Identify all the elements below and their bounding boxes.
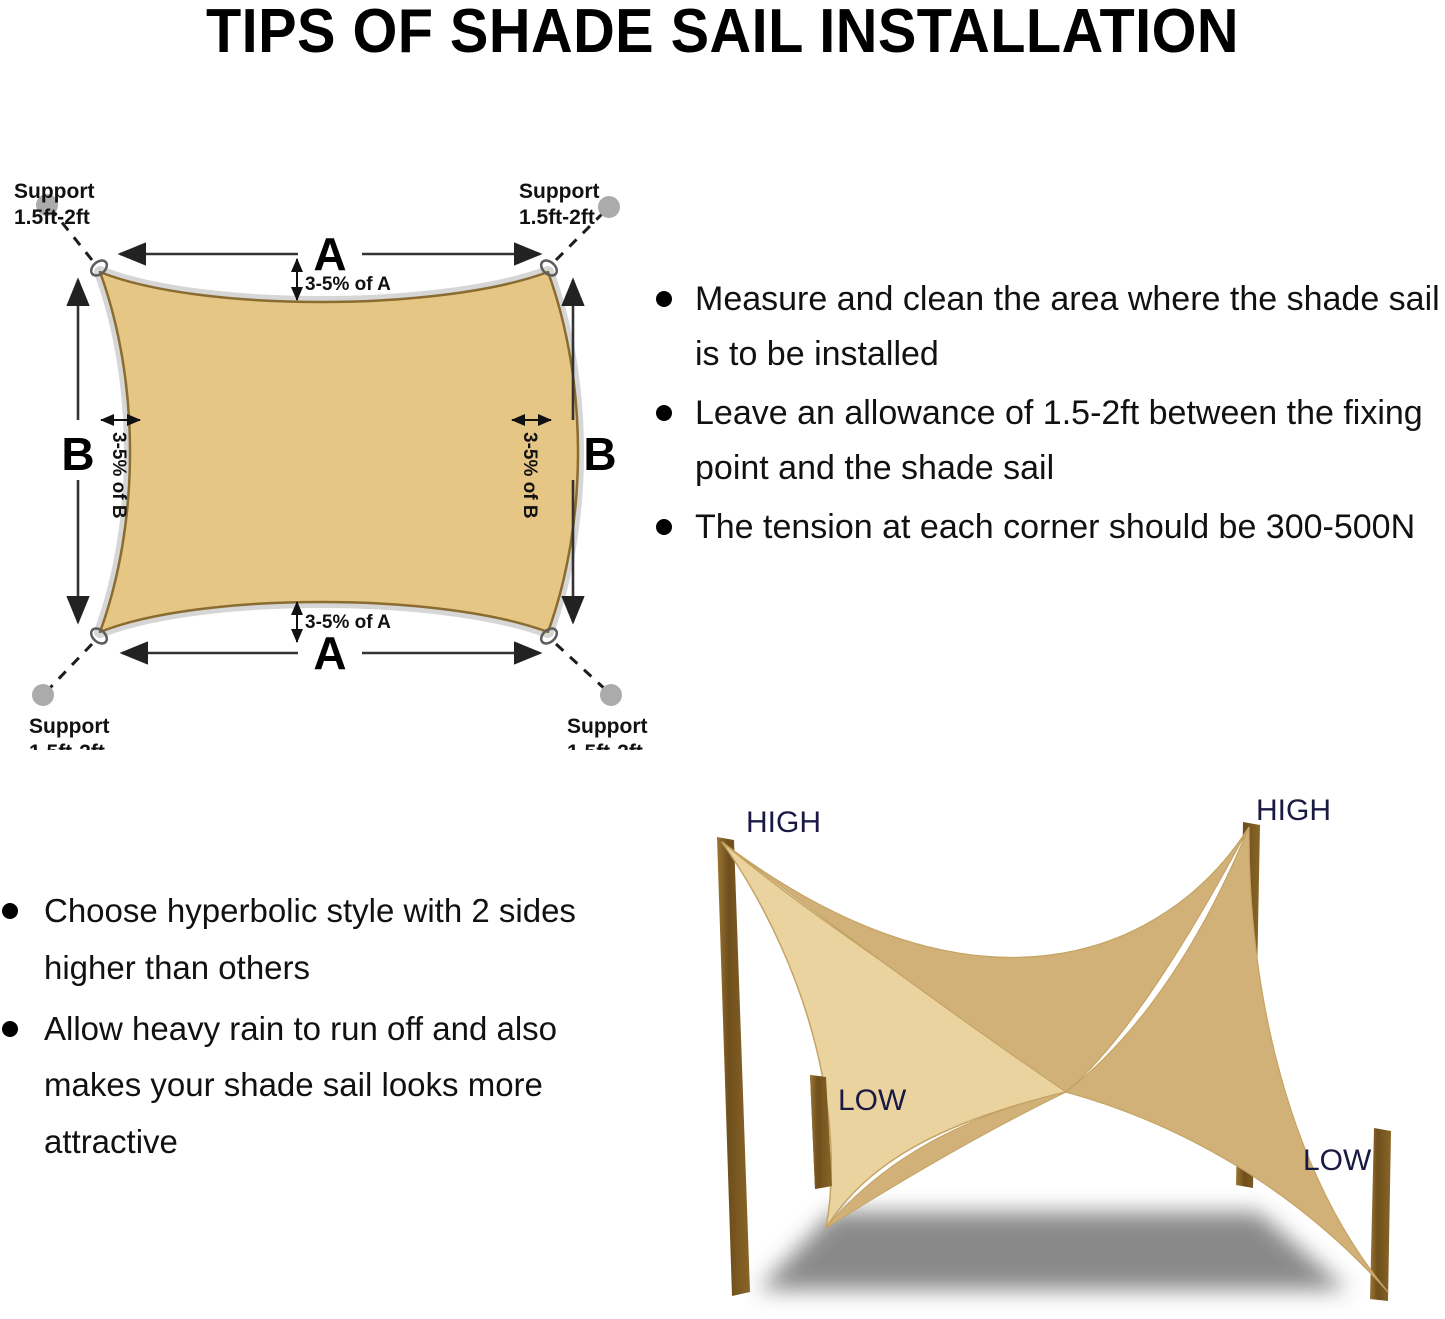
curvature-label-top: 3-5% of A	[305, 274, 391, 295]
list-item: Measure and clean the area where the sha…	[648, 272, 1445, 382]
support-sublabel-bottom-right: 1.5ft-2ft	[567, 741, 643, 750]
label-low-right: LOW	[1303, 1144, 1372, 1177]
tip-text: Measure and clean the area where the sha…	[695, 280, 1440, 373]
support-dot-bottom-left	[32, 684, 54, 706]
support-label-bottom-right: Support	[567, 715, 647, 738]
tip-text: Leave an allowance of 1.5-2ft between th…	[695, 394, 1423, 487]
support-sublabel-top-right: 1.5ft-2ft	[519, 206, 595, 229]
hyperbolic-sail-diagram: HIGH HIGH LOW LOW	[648, 780, 1445, 1319]
installation-tips-right: Measure and clean the area where the sha…	[648, 272, 1445, 559]
support-sublabel-bottom-left: 1.5ft-2ft	[29, 741, 105, 750]
list-item: Allow heavy rain to run off and also mak…	[0, 1001, 620, 1171]
dimension-label-left-b: B	[61, 428, 94, 480]
bullet-dot-icon	[2, 1021, 18, 1037]
bullet-dot-icon	[656, 519, 672, 535]
bullet-dot-icon	[2, 903, 18, 919]
tip-text: Choose hyperbolic style with 2 sides hig…	[44, 892, 576, 986]
installation-tips-left: Choose hyperbolic style with 2 sides hig…	[0, 883, 620, 1175]
page-title: TIPS OF SHADE SAIL INSTALLATION	[51, 0, 1395, 67]
rectangular-sail-diagram: Support 1.5ft-2ft Support 1.5ft-2ft Supp…	[0, 150, 660, 750]
dimension-label-right-b: B	[583, 428, 616, 480]
dimension-label-top-a: A	[313, 228, 346, 280]
tip-text: The tension at each corner should be 300…	[695, 508, 1415, 546]
ground-shadow	[758, 1212, 1348, 1290]
post-high-left	[717, 837, 750, 1296]
list-item: The tension at each corner should be 300…	[648, 500, 1445, 555]
support-sublabel-top-left: 1.5ft-2ft	[14, 206, 90, 229]
tip-text: Allow heavy rain to run off and also mak…	[44, 1010, 557, 1161]
support-label-top-right: Support	[519, 180, 599, 203]
shade-sail-shape	[100, 272, 578, 632]
bullet-dot-icon	[656, 405, 672, 421]
support-dot-top-right	[598, 196, 620, 218]
support-label-bottom-left: Support	[29, 715, 109, 738]
support-dot-bottom-right	[600, 684, 622, 706]
label-low-left: LOW	[838, 1084, 907, 1117]
label-high-left: HIGH	[746, 806, 821, 839]
curvature-label-bottom: 3-5% of A	[305, 612, 391, 633]
tips-list-left: Choose hyperbolic style with 2 sides hig…	[0, 883, 620, 1171]
dimension-label-bottom-a: A	[313, 627, 346, 679]
label-high-right: HIGH	[1256, 794, 1331, 827]
list-item: Leave an allowance of 1.5-2ft between th…	[648, 386, 1445, 496]
curvature-label-left: 3-5% of B	[108, 432, 129, 519]
curvature-label-right: 3-5% of B	[519, 432, 540, 519]
shade-sail-installation-infographic: TIPS OF SHADE SAIL INSTALLATION	[0, 0, 1445, 1319]
tips-list-right: Measure and clean the area where the sha…	[648, 272, 1445, 555]
bullet-dot-icon	[656, 291, 672, 307]
list-item: Choose hyperbolic style with 2 sides hig…	[0, 883, 620, 997]
support-label-top-left: Support	[14, 180, 94, 203]
